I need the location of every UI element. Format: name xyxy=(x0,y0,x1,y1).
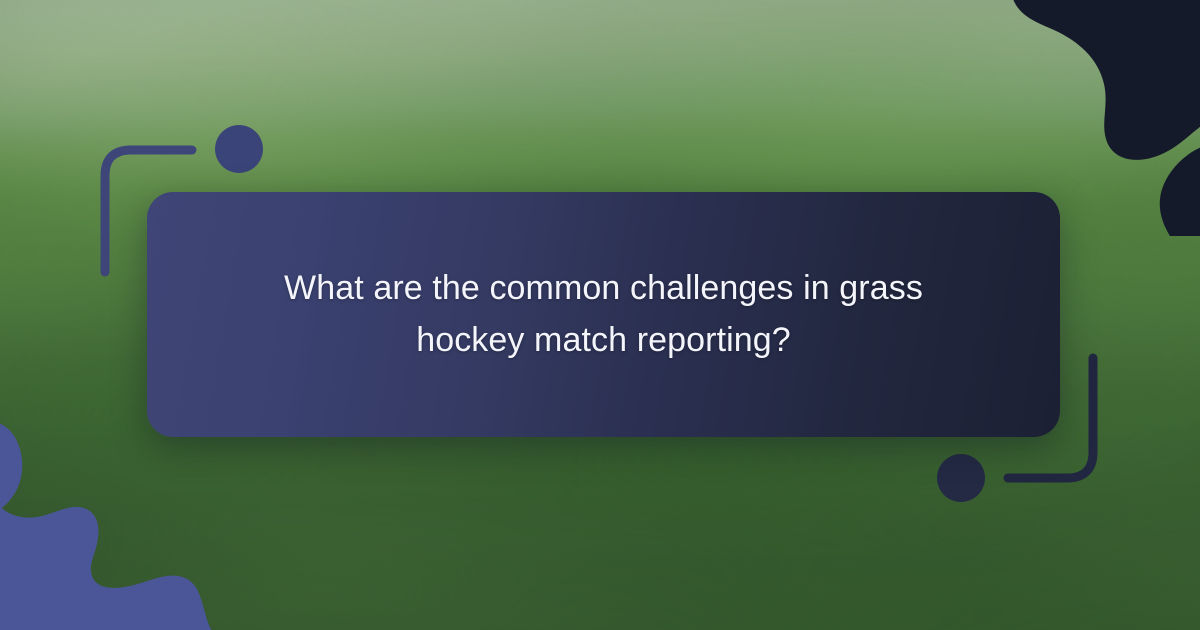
question-card: What are the common challenges in grass … xyxy=(147,192,1060,437)
social-card-canvas: What are the common challenges in grass … xyxy=(0,0,1200,630)
blob-bottom-left-decoration xyxy=(0,404,236,630)
question-text: What are the common challenges in grass … xyxy=(234,263,974,366)
